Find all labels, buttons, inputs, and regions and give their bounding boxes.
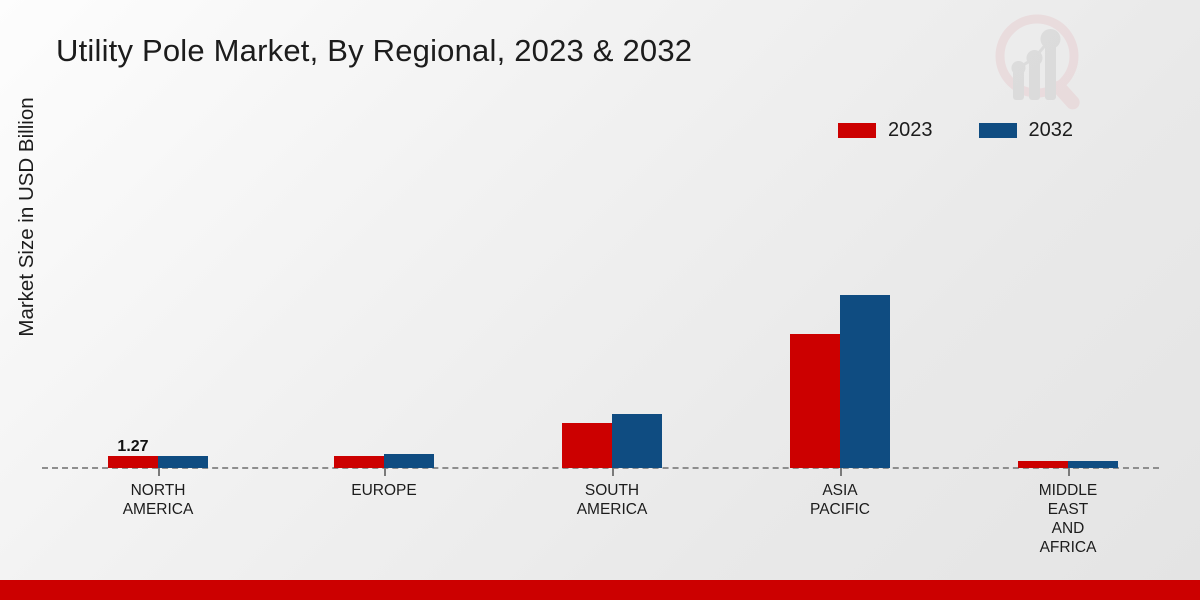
category-label-line: AMERICA [532, 500, 692, 519]
chart-canvas: Utility Pole Market, By Regional, 2023 &… [0, 0, 1200, 600]
category-label-south-america: SOUTH AMERICA [532, 481, 692, 519]
bar-2023-south-america[interactable] [562, 423, 612, 468]
category-label-line: AND [988, 519, 1148, 538]
bar-2032-north-america[interactable] [158, 456, 208, 468]
bar-2023-north-america[interactable] [108, 456, 158, 468]
bar-value-label-north-america-2023: 1.27 [93, 438, 173, 456]
tick-asia-pacific [840, 468, 842, 476]
category-label-line: MIDDLE [988, 481, 1148, 500]
bar-2023-europe[interactable] [334, 456, 384, 468]
bar-2032-europe[interactable] [384, 454, 434, 468]
category-label-middle-east-and-africa: MIDDLE EAST AND AFRICA [988, 481, 1148, 557]
category-label-asia-pacific: ASIA PACIFIC [760, 481, 920, 519]
bar-2023-middle-east-and-africa[interactable] [1018, 461, 1068, 468]
category-label-line: EAST [988, 500, 1148, 519]
category-label-europe: EUROPE [304, 481, 464, 500]
category-label-line: SOUTH [532, 481, 692, 500]
category-label-north-america: NORTH AMERICA [78, 481, 238, 519]
tick-europe [384, 468, 386, 476]
bar-2023-asia-pacific[interactable] [790, 334, 840, 468]
bar-2032-south-america[interactable] [612, 414, 662, 468]
bar-2032-middle-east-and-africa[interactable] [1068, 461, 1118, 468]
plot-area: 1.27 NORTH AMERICA EUROPE SOUTH AMERICA … [0, 0, 1200, 600]
category-label-line: EUROPE [304, 481, 464, 500]
category-label-line: AFRICA [988, 538, 1148, 557]
footer-accent-bar [0, 580, 1200, 600]
category-label-line: PACIFIC [760, 500, 920, 519]
tick-north-america [158, 468, 160, 476]
category-label-line: ASIA [760, 481, 920, 500]
tick-middle-east-and-africa [1068, 468, 1070, 476]
tick-south-america [612, 468, 614, 476]
bar-2032-asia-pacific[interactable] [840, 295, 890, 468]
category-label-line: NORTH [78, 481, 238, 500]
category-label-line: AMERICA [78, 500, 238, 519]
